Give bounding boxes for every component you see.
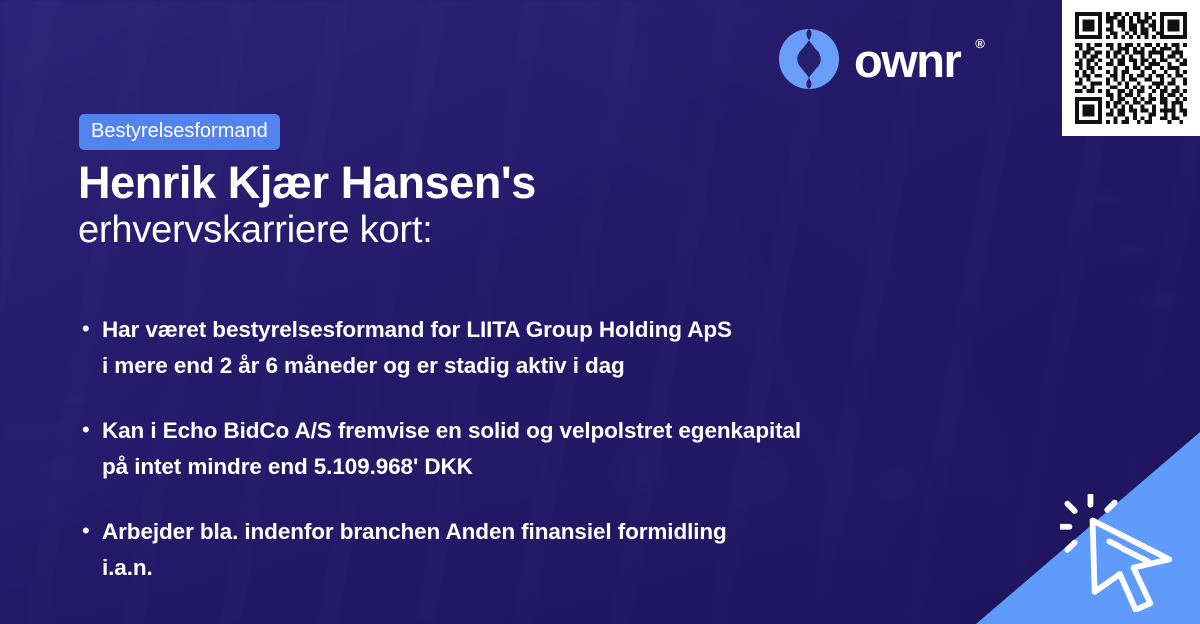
list-item: • Kan i Echo BidCo A/S fremvise en solid… [82, 413, 982, 486]
bullet-dot-icon: • [82, 413, 102, 447]
ownr-circular-swirl-logo-icon [778, 28, 840, 90]
page-title: Henrik Kjær Hansen's erhvervskarriere ko… [78, 158, 536, 253]
bullet-dot-icon: • [82, 514, 102, 548]
promo-card: ownr ® Bestyrelsesformand Henrik Kjær Ha… [0, 0, 1200, 624]
click-cursor-icon [1060, 494, 1186, 612]
list-item-line-2: på intet mindre end 5.109.968' DKK [102, 449, 801, 485]
ownr-logo[interactable]: ownr ® [778, 28, 984, 90]
list-item-line-1: Kan i Echo BidCo A/S fremvise en solid o… [102, 418, 801, 443]
list-item: • Arbejder bla. indenfor branchen Anden … [82, 514, 982, 587]
role-badge: Bestyrelsesformand [79, 114, 280, 150]
qr-code[interactable] [1062, 0, 1200, 136]
list-item-line-1: Arbejder bla. indenfor branchen Anden fi… [102, 519, 727, 544]
headline-line-2: erhvervskarriere kort: [78, 208, 536, 253]
list-item-text: Kan i Echo BidCo A/S fremvise en solid o… [102, 413, 801, 486]
registered-trademark-icon: ® [975, 36, 985, 51]
bullet-dot-icon: • [82, 312, 102, 346]
list-item-line-1: Har været bestyrelsesformand for LIITA G… [102, 317, 732, 342]
list-item-text: Arbejder bla. indenfor branchen Anden fi… [102, 514, 727, 587]
career-highlights-list: • Har været bestyrelsesformand for LIITA… [82, 312, 982, 615]
list-item-line-2: i mere end 2 år 6 måneder og er stadig a… [102, 348, 732, 384]
headline-line-1: Henrik Kjær Hansen's [78, 158, 536, 208]
list-item: • Har været bestyrelsesformand for LIITA… [82, 312, 982, 385]
list-item-text: Har været bestyrelsesformand for LIITA G… [102, 312, 732, 385]
ownr-wordmark: ownr [854, 37, 960, 84]
list-item-line-2: i.a.n. [102, 550, 727, 586]
